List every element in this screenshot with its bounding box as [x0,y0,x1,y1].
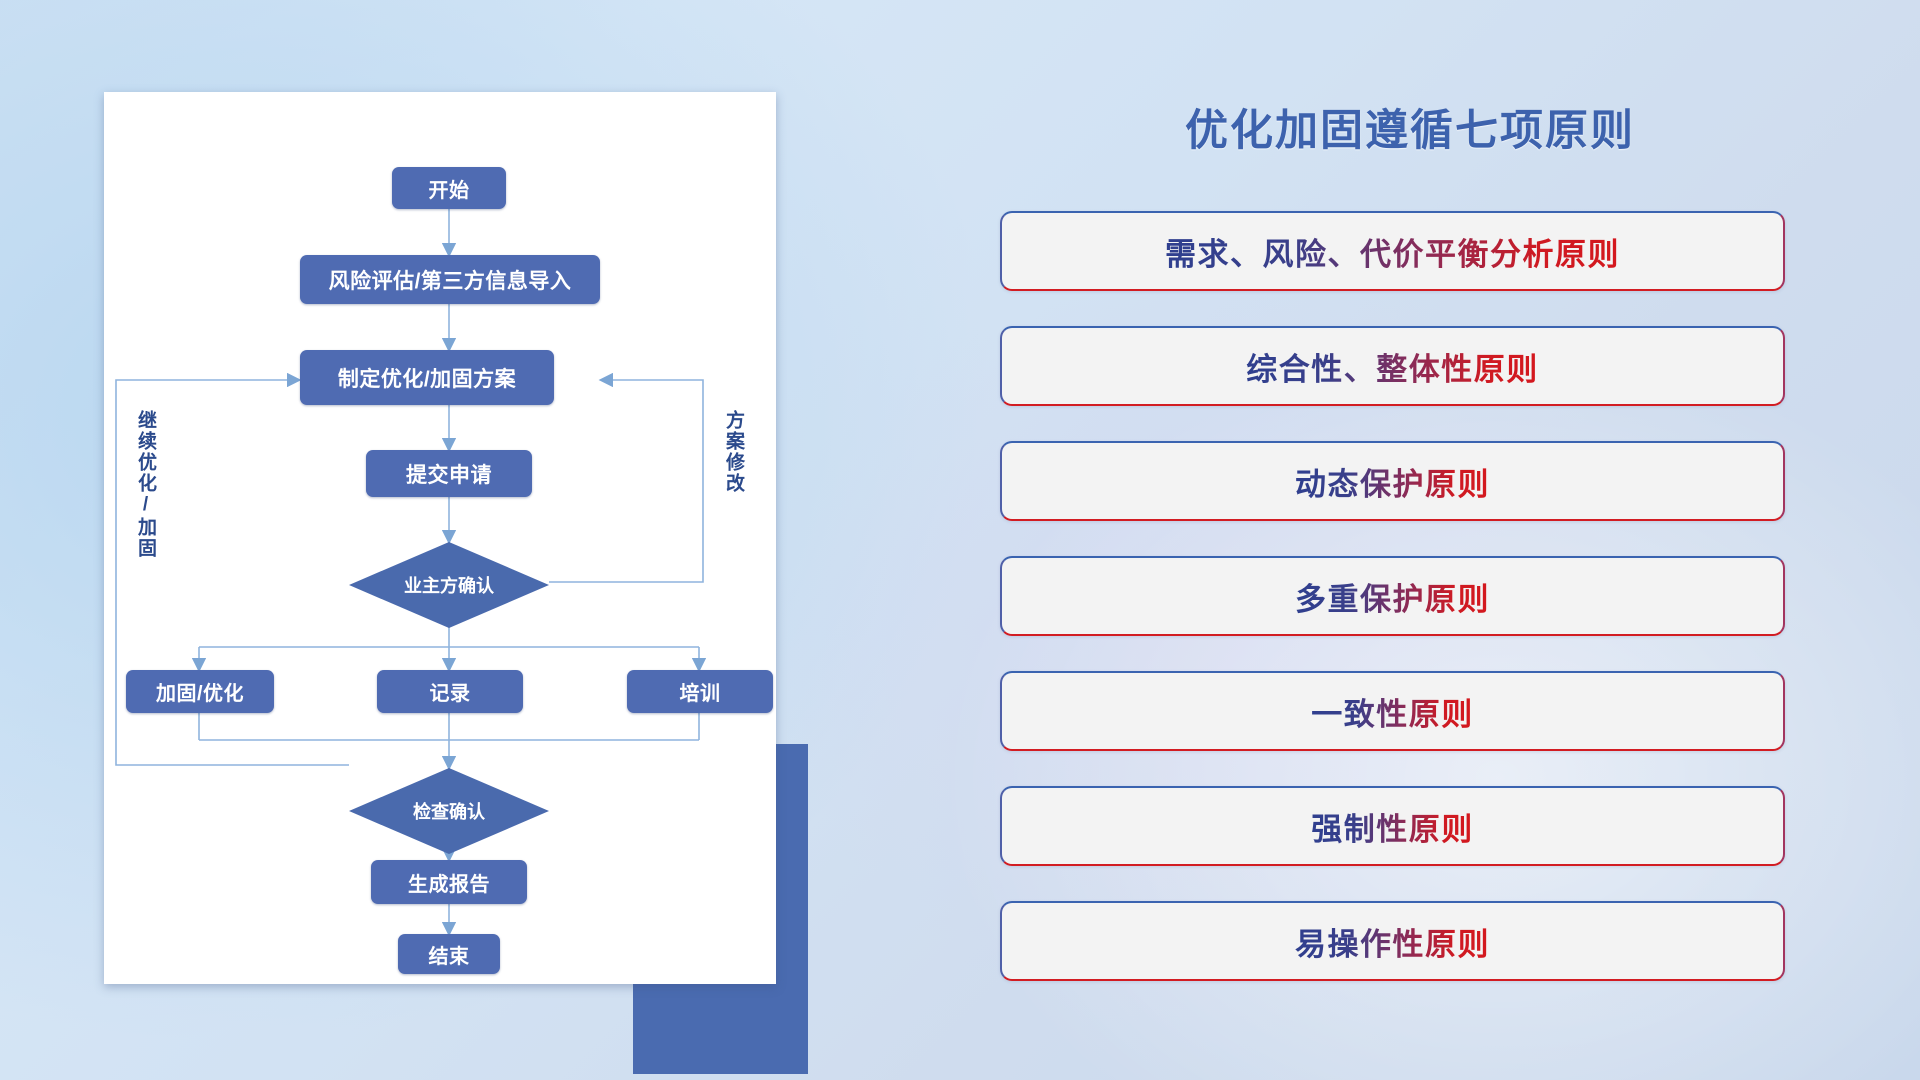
flow-node-training[interactable]: 培训 [627,670,773,713]
flow-node-label: 结束 [429,940,470,969]
principle-label: 强制性原则 [1311,804,1474,849]
principles-list: 需求、风险、代价平衡分析原则 综合性、整体性原则 动态保护原则 多重保护原则 一… [1000,211,1820,981]
flow-node-label: 检查确认 [413,798,485,824]
flow-node-label: 记录 [430,677,471,706]
flow-node-submit-application[interactable]: 提交申请 [366,450,532,497]
flow-node-label: 培训 [680,677,721,706]
flow-node-label: 制定优化/加固方案 [338,363,516,393]
principle-card-4[interactable]: 多重保护原则 [1000,556,1785,636]
principle-label: 易操作性原则 [1295,919,1490,964]
principle-card-3[interactable]: 动态保护原则 [1000,441,1785,521]
principle-label: 多重保护原则 [1295,574,1490,619]
principle-card-5[interactable]: 一致性原则 [1000,671,1785,751]
flow-node-generate-report[interactable]: 生成报告 [371,860,527,904]
flow-node-label: 业主方确认 [404,572,494,598]
flow-node-label: 提交申请 [406,459,492,489]
flow-node-label: 开始 [429,174,470,203]
principle-label: 需求、风险、代价平衡分析原则 [1165,229,1620,274]
principle-card-2[interactable]: 综合性、整体性原则 [1000,326,1785,406]
edge-label-text: 继续优化/加固 [135,410,156,559]
flow-node-start[interactable]: 开始 [392,167,506,209]
principle-card-6[interactable]: 强制性原则 [1000,786,1785,866]
flow-node-record[interactable]: 记录 [377,670,523,713]
flow-edge-label-plan-revision: 方案修改 [720,410,747,494]
principle-label: 综合性、整体性原则 [1246,344,1539,389]
principle-card-7[interactable]: 易操作性原则 [1000,901,1785,981]
flow-node-plan[interactable]: 制定优化/加固方案 [300,350,554,405]
edge-label-text: 方案修改 [723,410,744,494]
flow-node-label: 加固/优化 [156,677,244,706]
principle-label: 动态保护原则 [1295,459,1490,504]
flow-node-label: 生成报告 [408,868,490,897]
flow-node-owner-confirm[interactable]: 业主方确认 [349,542,549,628]
flowchart-card: 开始 风险评估/第三方信息导入 制定优化/加固方案 提交申请 业主方确认 加固/… [104,92,776,984]
page-title: 优化加固遵循七项原则 [1000,96,1820,158]
flow-node-label: 风险评估/第三方信息导入 [329,265,572,295]
flow-node-end[interactable]: 结束 [398,934,500,974]
flow-edge-label-continue-optimize: 继续优化/加固 [132,410,159,559]
principle-label: 一致性原则 [1311,689,1474,734]
flow-node-risk-assessment[interactable]: 风险评估/第三方信息导入 [300,255,600,304]
principles-panel: 优化加固遵循七项原则 需求、风险、代价平衡分析原则 综合性、整体性原则 动态保护… [1000,96,1820,1016]
flow-node-check-confirm[interactable]: 检查确认 [349,768,549,854]
flowchart-panel: 开始 风险评估/第三方信息导入 制定优化/加固方案 提交申请 业主方确认 加固/… [104,92,784,972]
flow-node-reinforce[interactable]: 加固/优化 [126,670,274,713]
principle-card-1[interactable]: 需求、风险、代价平衡分析原则 [1000,211,1785,291]
